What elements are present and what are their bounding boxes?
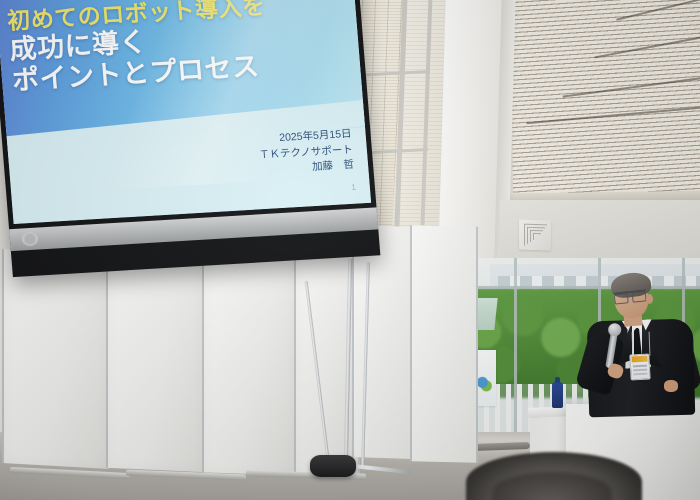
partition-panel — [106, 250, 206, 473]
blind-lift-cord — [616, 0, 700, 20]
horizontal-blinds-right — [511, 0, 700, 203]
presenter — [586, 276, 696, 416]
presentation-photo-scene: TK Techno Support 初めてのロボット導入を 成功に導く ポイント… — [0, 0, 700, 500]
blind-lift-cord — [526, 106, 700, 124]
glasses-icon — [614, 289, 647, 302]
presenter-name-badge — [629, 353, 650, 380]
slide-page-number: 1 — [351, 183, 356, 192]
presenter-hand-right — [664, 380, 678, 392]
ceiling-vent-icon — [519, 219, 551, 250]
partition-wall-left — [0, 252, 394, 482]
projection-display[interactable]: TK Techno Support 初めてのロボット導入を 成功に導く ポイント… — [0, 0, 380, 277]
presenter-ear — [646, 294, 653, 304]
partition-wall-right — [352, 226, 478, 472]
blind-lift-cord — [562, 76, 700, 97]
water-bottle — [552, 382, 563, 408]
slide-surface: TK Techno Support 初めてのロボット導入を 成功に導く ポイント… — [0, 0, 371, 224]
slide-metadata: 2025年5月15日 ＴＫテクノサポート 加藤 哲 — [257, 127, 355, 180]
equipment-bag — [310, 455, 356, 477]
partition-panel — [352, 225, 414, 459]
partition-panel — [202, 250, 298, 476]
partition-panel — [410, 225, 478, 463]
partition-panel — [2, 249, 110, 469]
blind-lift-cord — [594, 35, 700, 58]
